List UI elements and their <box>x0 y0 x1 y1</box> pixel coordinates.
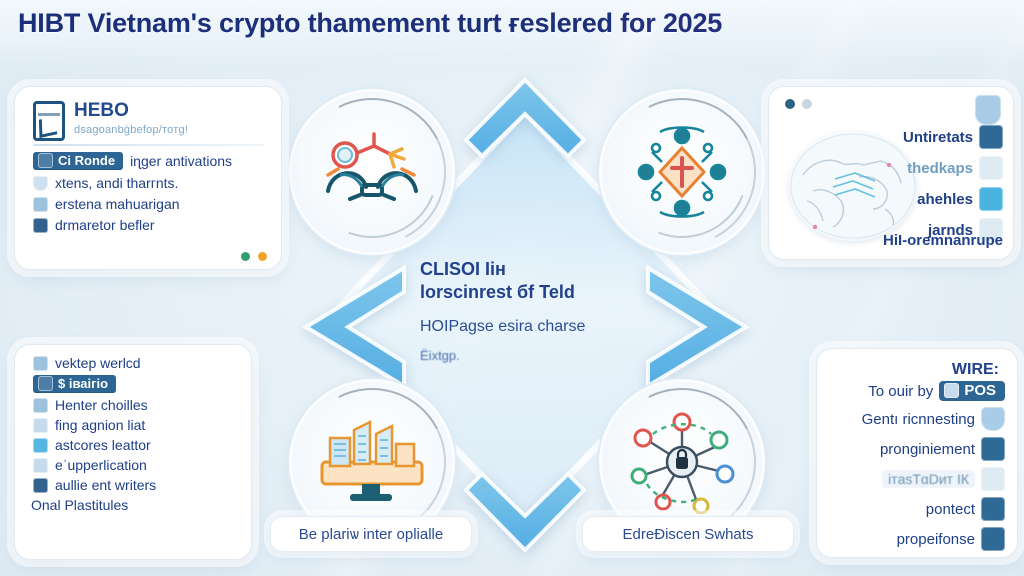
list-item[interactable]: fing agnion liat <box>33 417 239 433</box>
list-item-label: Gentı ricnnesting <box>862 411 975 428</box>
page-title-year: for 2025 <box>620 8 722 38</box>
label-bottom-right[interactable]: EdreƉiscen Swhats <box>582 516 794 552</box>
list-item-label: astcores leattor <box>55 437 151 453</box>
shield-icon <box>33 176 48 191</box>
list-item-label: ahehles <box>917 191 973 208</box>
wire-heading: WIRE: <box>829 361 999 379</box>
chip-label: $ іваігіо <box>58 376 108 391</box>
hebo-heading: HEBO <box>74 101 234 121</box>
label-bottom-left-text: Be plariѡ inter oplialle <box>299 526 443 543</box>
calendar-icon <box>33 356 48 371</box>
list-item[interactable]: To ouir by POS <box>829 381 1005 401</box>
list-item-label: propeifonse <box>897 531 975 548</box>
list-item-label: fing agnion liat <box>55 417 145 433</box>
pos-icon <box>944 383 959 398</box>
users-icon <box>33 478 48 493</box>
chip-square-icon: Сі Ronde <box>33 152 123 170</box>
center-line-4: Ёіхtɡр. <box>420 348 650 363</box>
list-item-label: aullіe ent writers <box>55 477 156 493</box>
node-top-left[interactable] <box>292 92 452 252</box>
list-item[interactable]: Untiretats <box>843 125 1003 149</box>
status-dots <box>241 252 267 261</box>
people-icon <box>33 218 48 233</box>
chip-label: Сі Ronde <box>58 153 115 168</box>
card-top-right[interactable]: Untiretats thedkaрѕ ahehles jarnds HіI-o… <box>768 86 1014 260</box>
window-icon <box>33 418 48 433</box>
grid-icon <box>33 197 48 212</box>
list-item[interactable]: pronginiement <box>829 437 1005 461</box>
green-status-dot <box>241 252 250 261</box>
doc-badge-icon <box>981 527 1005 551</box>
list-item-label: pronginiement <box>880 441 975 458</box>
arrow-down <box>460 452 590 557</box>
list-item-label: eˈupperlication <box>55 457 147 473</box>
orange-status-dot <box>258 252 267 261</box>
list-item-label: vektep werlcd <box>55 355 141 371</box>
page-title-main: HIBT Vietnam's crypto thamement turt ғes… <box>18 8 613 38</box>
chart-badge-icon <box>979 125 1003 149</box>
list-item-label: erstena mahuariɡan <box>55 196 180 212</box>
list-item[interactable]: vektep werlcd <box>33 355 239 371</box>
center-text-block: CLISOI Іін lorscinrest бf Teld HOIPagѕе … <box>420 258 650 363</box>
list-item[interactable]: xtens, andi tharгnts. <box>33 175 269 191</box>
dollar-chip: $ іваігіо <box>33 375 116 393</box>
card-footer-label: HіI-oremnanrupe <box>883 232 1003 249</box>
exchange-icon <box>33 438 48 453</box>
security-hub-icon <box>624 114 740 230</box>
calendar-badge-icon <box>979 156 1003 180</box>
list-item-label: Henter choilles <box>55 397 148 413</box>
label-bottom-left[interactable]: Be plariѡ inter oplialle <box>270 516 472 552</box>
arrow-left <box>300 262 412 392</box>
lines-badge-icon <box>981 467 1005 491</box>
lines-icon <box>33 458 48 473</box>
list-item-label: To ouir by <box>868 383 933 400</box>
list-item[interactable]: drmaretor befler <box>33 217 269 233</box>
center-line-3: HOIPagѕе esira charse <box>420 317 650 338</box>
list-item[interactable]: astcores leattor <box>33 437 239 453</box>
list-item-label: ітaѕTɑDит ІК <box>882 470 975 488</box>
hebo-subheading: dѕaɡоanbġbefoр/тотɡ! <box>74 124 234 136</box>
window-dot-primary <box>785 99 795 109</box>
shield-badge-icon <box>975 95 1001 125</box>
shield-badge-icon <box>981 407 1005 431</box>
arrow-right <box>640 262 752 392</box>
list-item[interactable]: ahehles <box>843 187 1003 211</box>
list-item[interactable]: $ іваігіо <box>33 375 239 393</box>
list-item-label: drmaretor befler <box>55 217 155 233</box>
arrow-up <box>460 74 590 184</box>
list-item[interactable]: thedkaрѕ <box>843 156 1003 180</box>
city-monitor-icon <box>314 404 430 520</box>
list-item-label: xtens, andi tharгnts. <box>55 175 178 191</box>
list-item[interactable]: eˈupperlication <box>33 457 239 473</box>
card-icon <box>33 398 48 413</box>
list-item[interactable]: Henter choilles <box>33 397 239 413</box>
divider <box>33 144 265 146</box>
window-dot-secondary <box>802 99 812 109</box>
exchange-badge-icon <box>979 187 1003 211</box>
card-footer-label: Onal Plastitules <box>31 497 239 513</box>
hebo-header: HEBO dѕaɡоanbġbefoр/тотɡ! <box>33 101 269 141</box>
card-top-left[interactable]: HEBO dѕaɡоanbġbefoр/тотɡ! Сі Ronde iɳɡer… <box>14 86 282 270</box>
page-title: HIBT Vietnam's crypto thamement turt ғes… <box>18 8 1008 39</box>
list-item[interactable]: Сі Ronde iɳɡer antivations <box>33 152 269 170</box>
list-item-label: Untiretats <box>903 129 973 146</box>
node-top-right[interactable] <box>602 92 762 252</box>
list-item-label: thedkaрѕ <box>907 160 973 177</box>
center-line-2: lorscinrest бf Teld <box>420 281 650 304</box>
card-bottom-left[interactable]: vektep werlcd $ іваігіо Henter choilles … <box>14 344 252 560</box>
list-item[interactable]: pontect <box>829 497 1005 521</box>
list-item[interactable]: Gentı ricnnesting <box>829 407 1005 431</box>
card-bottom-right[interactable]: WIRE: To ouir by POS Gentı ricnnesting p… <box>816 348 1018 558</box>
list-item[interactable]: ітaѕTɑDит ІК <box>829 467 1005 491</box>
list-item[interactable]: propeifonse <box>829 527 1005 551</box>
document-check-icon <box>33 101 65 141</box>
person-badge-icon <box>981 497 1005 521</box>
pos-label: POS <box>964 382 996 399</box>
square-glyph <box>38 153 53 168</box>
top-right-list: Untiretats thedkaрѕ ahehles jarnds <box>843 125 1003 249</box>
list-item[interactable]: erstena mahuariɡan <box>33 196 269 212</box>
list-item[interactable]: aullіe ent writers <box>33 477 239 493</box>
hub-spoke-lock-icon <box>624 404 740 520</box>
molecule-network-icon <box>314 114 430 230</box>
list-item-label: iɳɡer antivations <box>130 153 232 169</box>
window-dots <box>785 99 1001 109</box>
label-bottom-right-text: EdreƉiscen Swhats <box>623 526 754 543</box>
pos-pill[interactable]: POS <box>939 381 1005 401</box>
infographic-canvas: HIBT Vietnam's crypto thamement turt ғes… <box>0 0 1024 576</box>
network-badge-icon <box>981 437 1005 461</box>
list-item-label: pontect <box>926 501 975 518</box>
dollar-icon <box>38 376 53 391</box>
center-line-1: CLISOI Іін <box>420 258 650 281</box>
